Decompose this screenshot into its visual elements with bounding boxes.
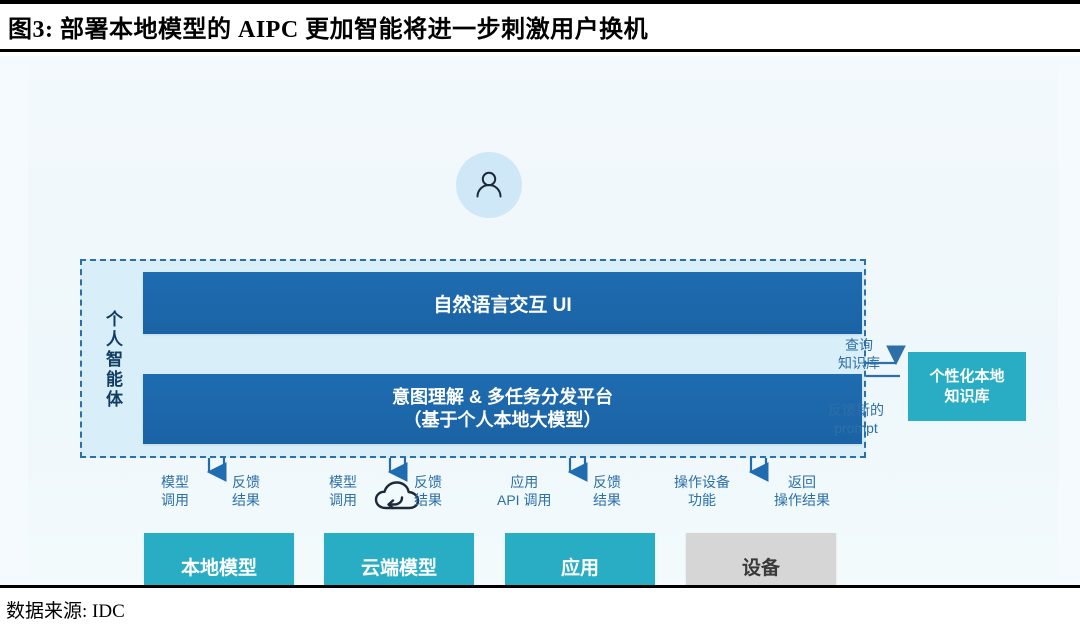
kb-query-label: 查询 知识库 [838,337,880,372]
flow-label-local-model-up: 反馈 结果 [232,474,260,510]
flow-label-local-model-down: 模型 调用 [161,474,189,510]
flow-label-device-down-line2: 功能 [674,492,730,510]
intent-platform-bar[interactable]: 意图理解 & 多任务分发平台 （基于个人本地大模型） [143,374,862,444]
flow-label-cloud-model-up-line1: 反馈 [414,474,442,492]
figure-canvas: 个 人 智 能 体 自然语言交互 UI 意图理解 & 多任务分发平台 （基于个人… [0,56,1080,585]
flow-label-application-up-line2: 结果 [593,492,621,510]
figure-title: 图3: 部署本地模型的 AIPC 更加智能将进一步刺激用户换机 [0,9,648,44]
personal-agent-label: 个 人 智 能 体 [98,284,132,436]
flow-label-application-up-line1: 反馈 [593,474,621,492]
kb-feedback-line1: 反馈新的 [828,402,884,420]
flow-label-local-model-up-line1: 反馈 [232,474,260,492]
user-avatar [456,152,522,218]
agent-label-char-4: 体 [106,390,124,410]
flow-label-local-model-up-line2: 结果 [232,492,260,510]
kb-query-line1: 查询 [838,337,880,355]
box-application[interactable]: 应用 [505,533,655,585]
flow-label-device-up: 返回 操作结果 [774,474,830,510]
figure-header: 图3: 部署本地模型的 AIPC 更加智能将进一步刺激用户换机 [0,0,1080,52]
knowledge-base-box[interactable]: 个性化本地 知识库 [908,352,1026,421]
nlui-bar[interactable]: 自然语言交互 UI [143,272,862,334]
agent-label-char-0: 个 [106,310,124,330]
flow-label-device-down: 操作设备 功能 [674,474,730,510]
person-icon [472,168,506,202]
kb-feedback-line2: prompt [828,420,884,438]
agent-label-char-3: 能 [106,370,124,390]
flow-label-cloud-model-up: 反馈 结果 [414,474,442,510]
box-device-label: 设备 [742,553,780,580]
flow-label-device-down-line1: 操作设备 [674,474,730,492]
kb-feedback-label: 反馈新的 prompt [828,402,884,437]
kb-query-line2: 知识库 [838,355,880,373]
knowledge-base-label-line2: 知识库 [929,387,1004,407]
agent-label-char-1: 人 [106,330,124,350]
box-device[interactable]: 设备 [686,533,836,585]
flow-label-application-down-line1: 应用 [497,474,551,492]
box-cloud-model-label: 云端模型 [361,553,437,580]
intent-bar-line2: （基于个人本地大模型） [392,409,613,432]
flow-label-cloud-model-down-line2: 调用 [329,492,357,510]
figure-footer: 数据来源: IDC [0,585,1080,641]
box-cloud-model[interactable]: 云端模型 [324,533,474,585]
intent-bar-line1: 意图理解 & 多任务分发平台 [392,386,613,409]
flow-label-cloud-model-down-line1: 模型 [329,474,357,492]
flow-label-local-model-down-line2: 调用 [161,492,189,510]
flow-label-application-up: 反馈 结果 [593,474,621,510]
flow-label-local-model-down-line1: 模型 [161,474,189,492]
box-local-model[interactable]: 本地模型 [144,533,294,585]
flow-label-cloud-model-up-line2: 结果 [414,492,442,510]
knowledge-base-label-line1: 个性化本地 [929,367,1004,387]
agent-label-char-2: 智 [106,350,124,370]
flow-label-application-down-line2: API 调用 [497,492,551,510]
flow-label-device-up-line1: 返回 [774,474,830,492]
flow-label-device-up-line2: 操作结果 [774,492,830,510]
nlui-bar-label: 自然语言交互 UI [433,290,571,317]
flow-label-cloud-model-down: 模型 调用 [329,474,357,510]
flow-label-application-down: 应用 API 调用 [497,474,551,510]
source-note: 数据来源: IDC [0,588,1080,623]
box-application-label: 应用 [561,553,599,580]
box-local-model-label: 本地模型 [181,553,257,580]
